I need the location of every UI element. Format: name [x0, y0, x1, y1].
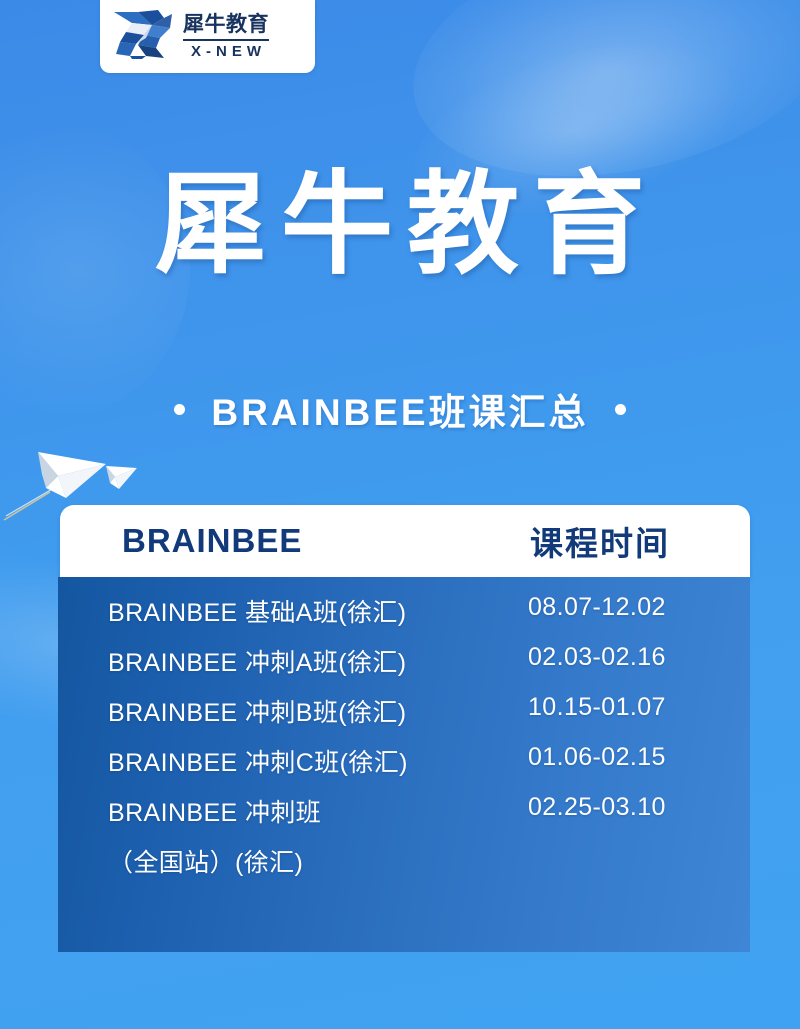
- row-course-time: 01.06-02.15: [528, 743, 666, 772]
- table-header-course: BRAINBEE: [122, 522, 302, 560]
- row-course-name: BRAINBEE 冲刺班: [108, 793, 528, 829]
- table-row-continuation: （全国站）(徐汇): [58, 843, 750, 893]
- row-course-time: 02.25-03.10: [528, 793, 666, 822]
- row-course-time: 10.15-01.07: [528, 693, 666, 722]
- brand-logo-en: X-NEW: [186, 44, 266, 59]
- brand-logo-cn: 犀牛教育: [183, 14, 269, 40]
- row-course-name-line2: （全国站）(徐汇): [108, 843, 528, 879]
- table-header-time: 课程时间: [530, 517, 670, 565]
- row-course-name: BRAINBEE 冲刺C班(徐汇): [108, 743, 528, 779]
- table-row[interactable]: BRAINBEE 冲刺B班(徐汇) 10.15-01.07: [58, 693, 750, 743]
- x-logo-icon: [112, 8, 174, 65]
- table-row[interactable]: BRAINBEE 基础A班(徐汇) 08.07-12.02: [58, 593, 750, 643]
- brand-logo-text: 犀牛教育 X-NEW: [183, 14, 269, 58]
- row-course-name: BRAINBEE 冲刺A班(徐汇): [108, 643, 528, 679]
- page-title: 犀牛教育: [0, 163, 800, 288]
- row-course-time: 08.07-12.02: [528, 593, 666, 622]
- table-header: BRAINBEE 课程时间: [60, 505, 750, 577]
- poster-canvas: 犀牛教育 X-NEW 犀牛教育 BRAINBEE班课汇总: [0, 0, 800, 1029]
- subtitle-row: BRAINBEE班课汇总: [0, 382, 800, 436]
- table-row[interactable]: BRAINBEE 冲刺班 02.25-03.10: [58, 793, 750, 843]
- bullet-dot-icon-left: [174, 404, 185, 415]
- brand-logo-badge[interactable]: 犀牛教育 X-NEW: [100, 0, 315, 73]
- row-course-time: 02.03-02.16: [528, 643, 666, 672]
- bullet-dot-icon-right: [615, 404, 626, 415]
- table-row[interactable]: BRAINBEE 冲刺C班(徐汇) 01.06-02.15: [58, 743, 750, 793]
- table-body: BRAINBEE 基础A班(徐汇) 08.07-12.02 BRAINBEE 冲…: [58, 577, 750, 952]
- row-course-name: BRAINBEE 冲刺B班(徐汇): [108, 693, 528, 729]
- row-course-name: BRAINBEE 基础A班(徐汇): [108, 593, 528, 629]
- page-subtitle: BRAINBEE班课汇总: [211, 382, 588, 436]
- table-row[interactable]: BRAINBEE 冲刺A班(徐汇) 02.03-02.16: [58, 643, 750, 693]
